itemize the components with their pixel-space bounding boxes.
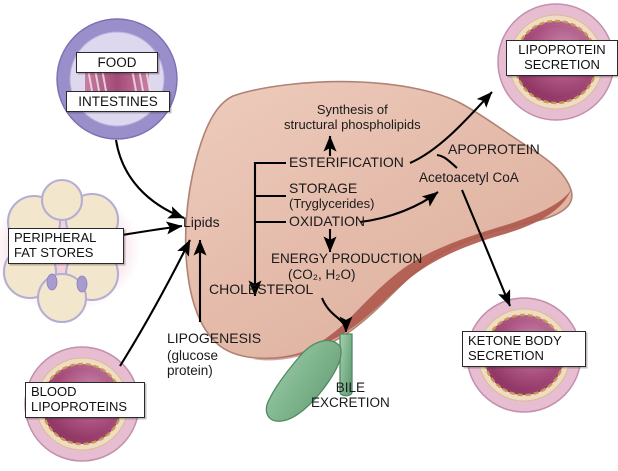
ketone-body-secretion-label: KETONE BODY SECRETION — [462, 331, 586, 367]
apoprotein-label: APOPROTEIN — [448, 142, 540, 158]
energy-production-label: ENERGY PRODUCTION — [271, 251, 422, 266]
peripheral-fat-stores-label: PERIPHERAL FAT STORES — [8, 228, 124, 264]
esterification-label: ESTERIFICATION — [289, 155, 404, 171]
energy-production-sublabel: (CO₂, H₂O) — [288, 267, 355, 282]
food-label: FOOD — [76, 52, 158, 73]
blood-lipoproteins-label: BLOOD LIPOPROTEINS — [25, 382, 145, 418]
storage-sublabel: (Tryglycerides) — [289, 197, 374, 212]
bile-excretion-label: BILE EXCRETION — [311, 380, 390, 410]
lipoprotein-secretion-label: LIPOPROTEIN SECRETION — [506, 40, 618, 76]
diagram-canvas: FOOD INTESTINES PERIPHERAL FAT STORES BL… — [0, 0, 618, 471]
arrow-intestines-to-lipids — [116, 140, 184, 218]
lipids-label: Lipids — [183, 215, 220, 231]
oxidation-label: OXIDATION — [289, 214, 365, 230]
intestines-circle-graphic — [57, 19, 177, 139]
acetoacetyl-coa-label: Acetoacetyl CoA — [419, 170, 519, 185]
lipogenesis-sublabel: (glucose protein) — [167, 348, 218, 378]
intestines-label: INTESTINES — [66, 91, 170, 112]
lipogenesis-label: LIPOGENESIS — [167, 331, 261, 347]
synthesis-phospholipids-label: Synthesis of structural phospholipids — [284, 103, 421, 132]
storage-label: STORAGE — [289, 181, 357, 197]
cholesterol-label: CHOLESTEROL — [209, 282, 313, 298]
